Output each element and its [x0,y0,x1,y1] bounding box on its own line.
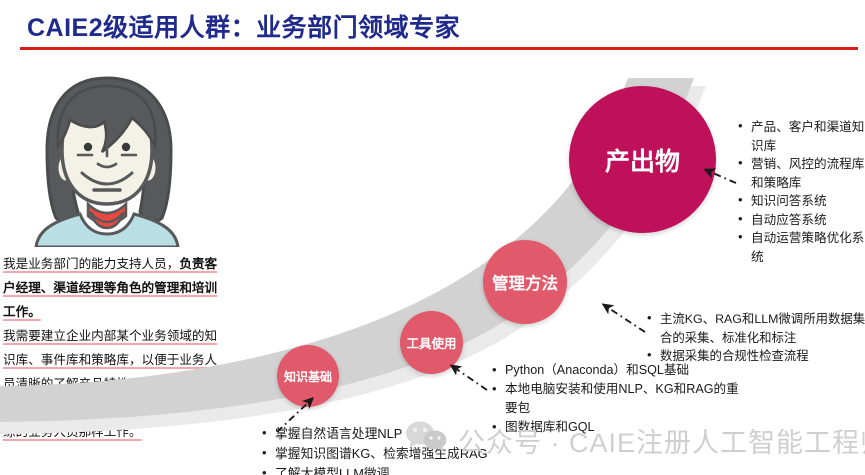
list-item: 自动应答系统 [738,211,865,230]
connector-output [706,170,736,183]
bullets-knowledge-base: 掌握自然语言处理NLP 掌握知识图谱KG、检索增强生成RAG 了解大模型LLM微… [262,424,522,475]
bullets-tool-usage: Python（Anaconda）和SQL基础 本地电脑安装和使用NLP、KG和R… [492,361,742,437]
list-item: 知识问答系统 [738,192,865,211]
list-item: 产品、客户和渠道知识库 [738,118,865,155]
list-item: 了解大模型LLM微调 [262,464,522,475]
list-item: 营销、风控的流程库和策略库 [738,155,865,192]
bullets-management: 主流KG、RAG和LLM微调所用数据集合的采集、标准化和标注 数据采集的合规性检… [647,310,865,366]
list-item: 自动运营策略优化系统 [738,229,865,266]
list-item: 掌握自然语言处理NLP [262,424,522,444]
list-item: 掌握知识图谱KG、检索增强生成RAG [262,444,522,464]
connector-tool-usage [452,366,487,390]
list-item: 主流KG、RAG和LLM微调所用数据集合的采集、标准化和标注 [647,310,865,347]
list-item: 本地电脑安装和使用NLP、KG和RAG的重要包 [492,380,742,418]
list-item: 图数据库和GQL [492,418,742,437]
bullets-output: 产品、客户和渠道知识库 营销、风控的流程库和策略库 知识问答系统 自动应答系统 … [738,118,865,266]
slide-canvas: CAIE2级适用人群：业务部门领域专家 [0,0,865,475]
list-item: Python（Anaconda）和SQL基础 [492,361,742,380]
connector-management [604,305,645,332]
